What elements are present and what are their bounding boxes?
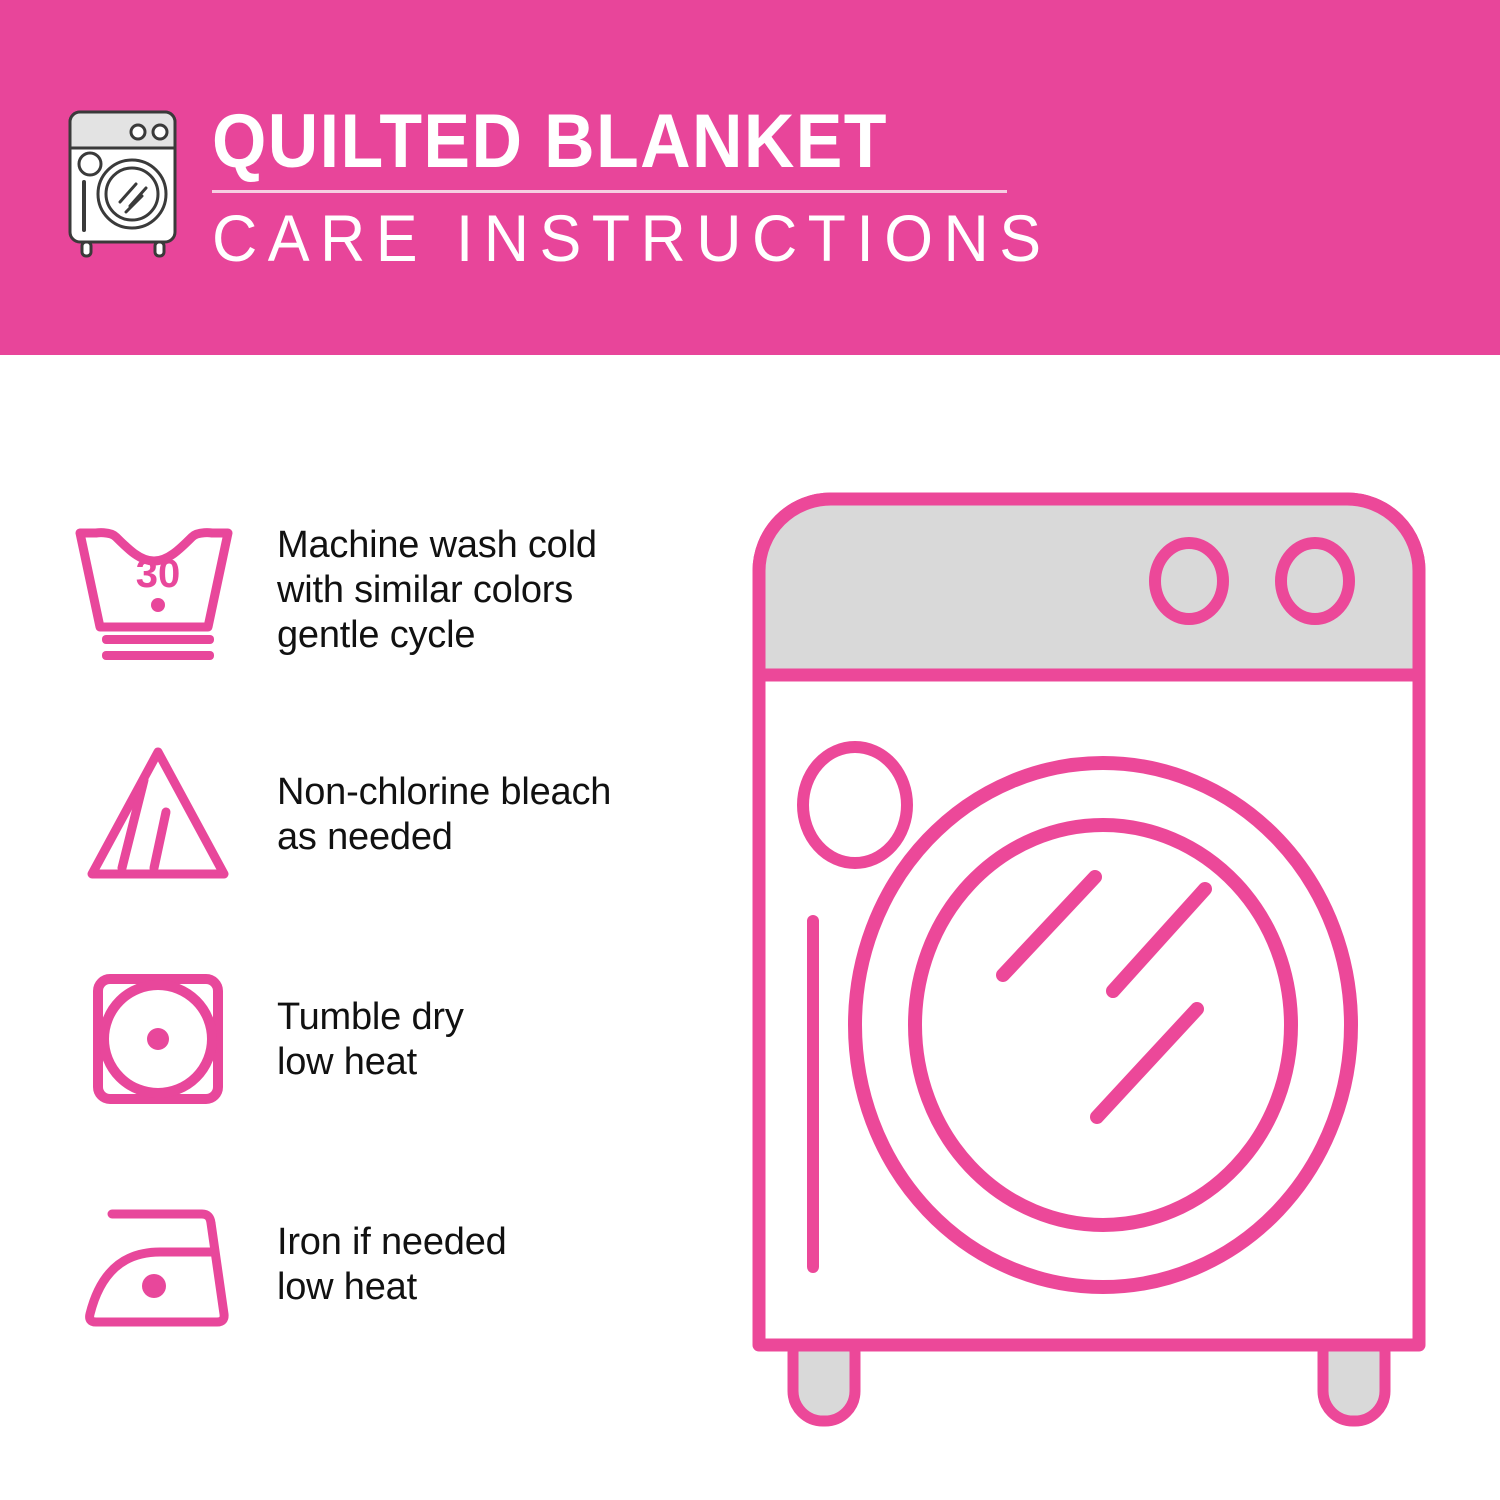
- care-item-iron-text: Iron if needed low heat: [277, 1220, 507, 1310]
- washing-machine-illustration: [745, 485, 1455, 1445]
- header-content: QUILTED BLANKET CARE INSTRUCTIONS: [60, 100, 1096, 273]
- care-instruction-list: 30 Machine wash cold with similar colors…: [70, 505, 720, 1350]
- tumble-dry-dot: [147, 1028, 169, 1050]
- page-title: QUILTED BLANKET: [212, 102, 1025, 182]
- page-subtitle: CARE INSTRUCTIONS: [212, 203, 1052, 273]
- care-symbol-slot: [70, 740, 245, 890]
- care-symbol-slot: [70, 1190, 245, 1340]
- washing-machine-icon: [60, 104, 190, 264]
- care-item-iron: Iron if needed low heat: [70, 1180, 720, 1350]
- title-divider: [212, 190, 1007, 193]
- care-item-tumble-dry: Tumble dry low heat: [70, 955, 720, 1125]
- care-item-bleach-text: Non-chlorine bleach as needed: [277, 770, 611, 860]
- wash-tub-30-gentle-icon: 30: [74, 515, 242, 665]
- drum-inner-ring: [915, 825, 1291, 1225]
- wash-temperature-value: 30: [135, 552, 180, 596]
- care-text-line: Non-chlorine bleach: [277, 770, 611, 815]
- care-text-line: Iron if needed: [277, 1220, 507, 1265]
- care-text-line: as needed: [277, 815, 611, 860]
- header-title-group: QUILTED BLANKET CARE INSTRUCTIONS: [212, 100, 1096, 273]
- detergent-indicator-icon: [803, 747, 907, 863]
- care-text-line: with similar colors: [277, 568, 597, 613]
- bleach-triangle-nonchlorine-icon: [74, 740, 242, 890]
- content-area: 30 Machine wash cold with similar colors…: [0, 355, 1500, 1500]
- control-knob-left[interactable]: [1155, 543, 1223, 619]
- tumble-dry-low-icon: [74, 965, 242, 1115]
- care-text-line: Tumble dry: [277, 995, 464, 1040]
- care-symbol-slot: 30: [70, 515, 245, 665]
- care-text-line: low heat: [277, 1040, 464, 1085]
- iron-low-heat-icon: [74, 1190, 242, 1340]
- wash-dot: [151, 598, 165, 612]
- care-text-line: low heat: [277, 1265, 507, 1310]
- care-text-line: Machine wash cold: [277, 523, 597, 568]
- front-load-washing-machine-illustration: [745, 485, 1455, 1445]
- iron-dot: [142, 1274, 166, 1298]
- care-item-wash-text: Machine wash cold with similar colors ge…: [277, 523, 597, 658]
- care-item-bleach: Non-chlorine bleach as needed: [70, 730, 720, 900]
- care-symbol-slot: [70, 965, 245, 1115]
- care-text-line: gentle cycle: [277, 613, 597, 658]
- care-item-tumble-dry-text: Tumble dry low heat: [277, 995, 464, 1085]
- control-knob-right[interactable]: [1281, 543, 1349, 619]
- care-item-wash: 30 Machine wash cold with similar colors…: [70, 505, 720, 675]
- header-banner: QUILTED BLANKET CARE INSTRUCTIONS: [0, 0, 1500, 355]
